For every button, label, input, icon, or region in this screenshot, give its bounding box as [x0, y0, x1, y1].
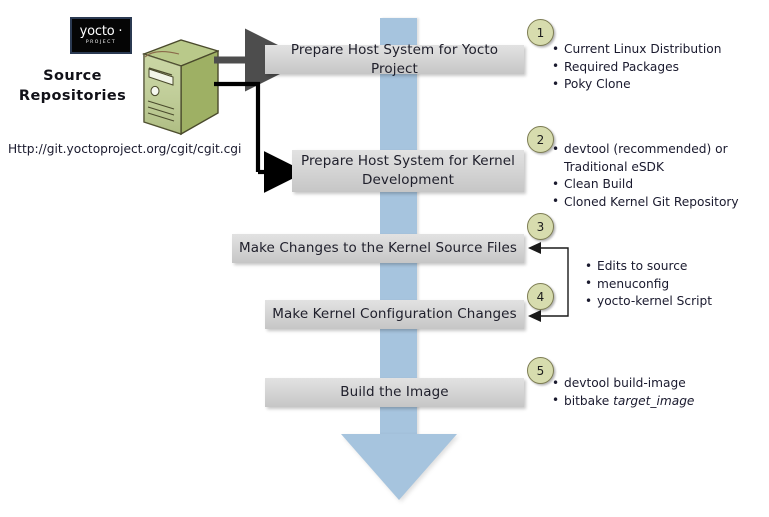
process-box-step4[interactable]: Make Kernel Configuration Changes	[265, 300, 524, 329]
process-box-step1[interactable]: Prepare Host System for Yocto Project	[265, 45, 524, 74]
bitbake-target-image-arg: target_image	[613, 394, 694, 408]
diagram-canvas: yocto · PROJECT Source Repositories Http…	[0, 0, 769, 517]
list-item: devtool (recommended) or Traditional eSD…	[564, 141, 736, 176]
bullet-list-steps-3-4: Edits to source menuconfig yocto-kernel …	[583, 258, 712, 311]
list-item: Required Packages	[564, 59, 721, 77]
bullet-list-step2: devtool (recommended) or Traditional eSD…	[550, 141, 739, 211]
arrowhead-into-step3	[528, 242, 541, 254]
list-item: yocto-kernel Script	[597, 293, 712, 311]
step-circle-3: 3	[527, 213, 554, 240]
list-item: Cloned Kernel Git Repository	[564, 194, 739, 212]
list-item: Current Linux Distribution	[564, 41, 721, 59]
process-box-step2[interactable]: Prepare Host System for Kernel Developme…	[292, 150, 524, 192]
list-item: devtool build-image	[564, 375, 694, 393]
bullet-list-step1: Current Linux Distribution Required Pack…	[550, 41, 721, 94]
step-circle-4: 4	[527, 283, 554, 310]
list-item: bitbake target_image	[564, 393, 694, 411]
arrowhead-into-step4	[528, 310, 541, 322]
list-item: menuconfig	[597, 276, 712, 294]
bullet-list-step5: devtool build-image bitbake target_image	[550, 375, 694, 410]
bitbake-command-prefix: bitbake	[564, 394, 613, 408]
list-item: Clean Build	[564, 176, 739, 194]
wire-server-to-step2	[214, 84, 258, 172]
list-item: Edits to source	[597, 258, 712, 276]
process-box-step3[interactable]: Make Changes to the Kernel Source Files	[232, 234, 524, 263]
process-box-step5[interactable]: Build the Image	[265, 378, 524, 407]
list-item: Poky Clone	[564, 76, 721, 94]
